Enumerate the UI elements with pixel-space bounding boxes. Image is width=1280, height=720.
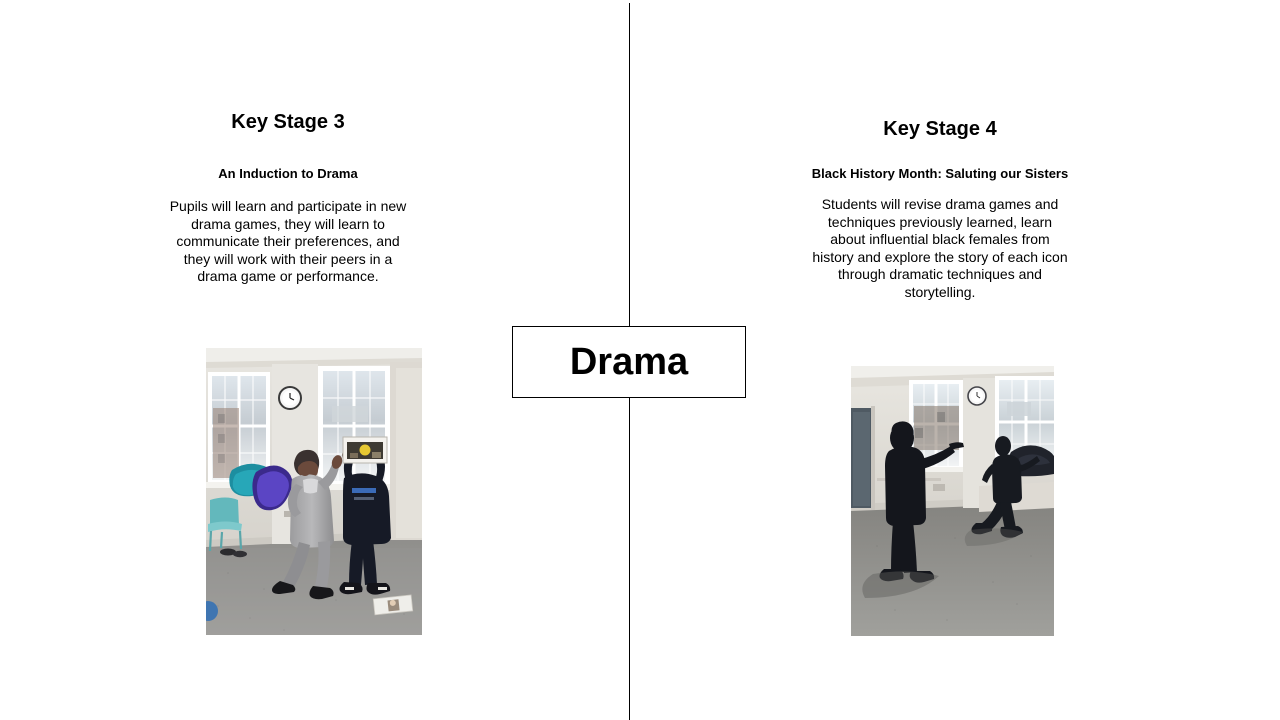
subject-title-box: Drama [512, 326, 746, 398]
ks3-photo-graphic [206, 348, 422, 635]
ks3-drama-lesson-photo [206, 348, 422, 635]
key-stage-3-heading: Key Stage 3 [138, 110, 438, 134]
key-stage-3-unit-description: Pupils will learn and participate in new… [169, 198, 407, 286]
key-stage-4-unit-description: Students will revise drama games and tec… [812, 196, 1068, 301]
key-stage-4-heading: Key Stage 4 [790, 117, 1090, 141]
ks4-drama-lesson-photo [851, 366, 1054, 636]
key-stage-4-column: Key Stage 4 Black History Month: Salutin… [790, 0, 1090, 301]
key-stage-3-column: Key Stage 3 An Induction to Drama Pupils… [138, 0, 438, 286]
subject-title-label: Drama [570, 343, 688, 381]
key-stage-4-unit-title: Black History Month: Saluting our Sister… [810, 165, 1070, 182]
ks4-photo-graphic [851, 366, 1054, 636]
key-stage-3-unit-title: An Induction to Drama [158, 165, 418, 182]
